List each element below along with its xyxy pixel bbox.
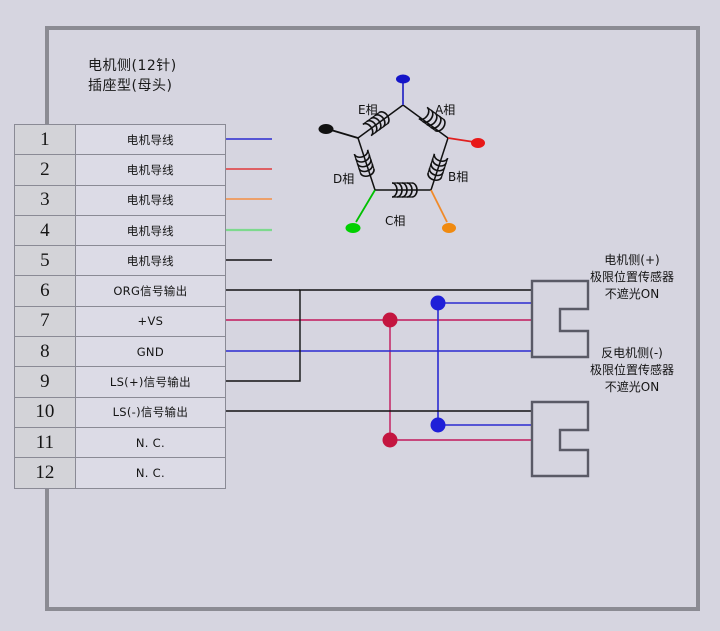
phase-label-a: A相 — [435, 101, 455, 118]
pin-label: 电机导线 — [75, 155, 225, 185]
sensor-plus-line2: 极限位置传感器 — [552, 269, 712, 286]
pin-label: LS(-)信号输出 — [75, 397, 225, 427]
pin-label: GND — [75, 337, 225, 367]
table-row: 8GND — [15, 337, 226, 367]
connector-title: 电机侧(12针) 插座型(母头) — [88, 56, 177, 96]
table-row: 1电机导线 — [15, 125, 226, 155]
phase-label-c: C相 — [385, 212, 405, 229]
pin-number: 5 — [15, 246, 76, 276]
pin-number: 2 — [15, 155, 76, 185]
pin-number: 3 — [15, 185, 76, 215]
phase-label-d: D相 — [333, 170, 354, 187]
pin-number: 12 — [15, 458, 76, 488]
pin-label: 电机导线 — [75, 185, 225, 215]
sensor-plus-line1: 电机侧(+) — [552, 252, 712, 269]
pin-number: 10 — [15, 397, 76, 427]
pin-number: 9 — [15, 367, 76, 397]
pin-label: ORG信号输出 — [75, 276, 225, 306]
pin-label: +VS — [75, 306, 225, 336]
pin-label: N. C. — [75, 458, 225, 488]
pin-label: 电机导线 — [75, 215, 225, 245]
pin-assignment-table: 1电机导线2电机导线3电机导线4电机导线5电机导线6ORG信号输出7+VS8GN… — [14, 124, 226, 489]
pin-number: 8 — [15, 337, 76, 367]
sensor-minus-line1: 反电机侧(-) — [548, 345, 716, 362]
pin-label: N. C. — [75, 427, 225, 457]
pin-label: LS(+)信号输出 — [75, 367, 225, 397]
pin-number: 6 — [15, 276, 76, 306]
diagram-root: 电机侧(12针) 插座型(母头) 1电机导线2电机导线3电机导线4电机导线5电机… — [0, 0, 720, 631]
pin-number: 11 — [15, 427, 76, 457]
table-row: 9LS(+)信号输出 — [15, 367, 226, 397]
pin-number: 1 — [15, 125, 76, 155]
sensor-minus-line3: 不遮光ON — [548, 379, 716, 396]
table-row: 4电机导线 — [15, 215, 226, 245]
phase-label-b: B相 — [448, 168, 468, 185]
pin-number: 4 — [15, 215, 76, 245]
table-row: 7+VS — [15, 306, 226, 336]
sensor-plus-line3: 不遮光ON — [552, 286, 712, 303]
phase-label-e: E相 — [358, 101, 378, 118]
table-row: 10LS(-)信号输出 — [15, 397, 226, 427]
table-row: 6ORG信号输出 — [15, 276, 226, 306]
pin-label: 电机导线 — [75, 125, 225, 155]
sensor-caption-plus: 电机侧(+) 极限位置传感器 不遮光ON — [552, 252, 712, 303]
sensor-caption-minus: 反电机侧(-) 极限位置传感器 不遮光ON — [548, 345, 716, 396]
table-row: 2电机导线 — [15, 155, 226, 185]
pin-label: 电机导线 — [75, 246, 225, 276]
pin-number: 7 — [15, 306, 76, 336]
table-row: 12N. C. — [15, 458, 226, 488]
connector-title-line2: 插座型(母头) — [88, 76, 177, 96]
table-row: 11N. C. — [15, 427, 226, 457]
table-row: 5电机导线 — [15, 246, 226, 276]
connector-title-line1: 电机侧(12针) — [88, 56, 177, 76]
sensor-minus-line2: 极限位置传感器 — [548, 362, 716, 379]
table-row: 3电机导线 — [15, 185, 226, 215]
